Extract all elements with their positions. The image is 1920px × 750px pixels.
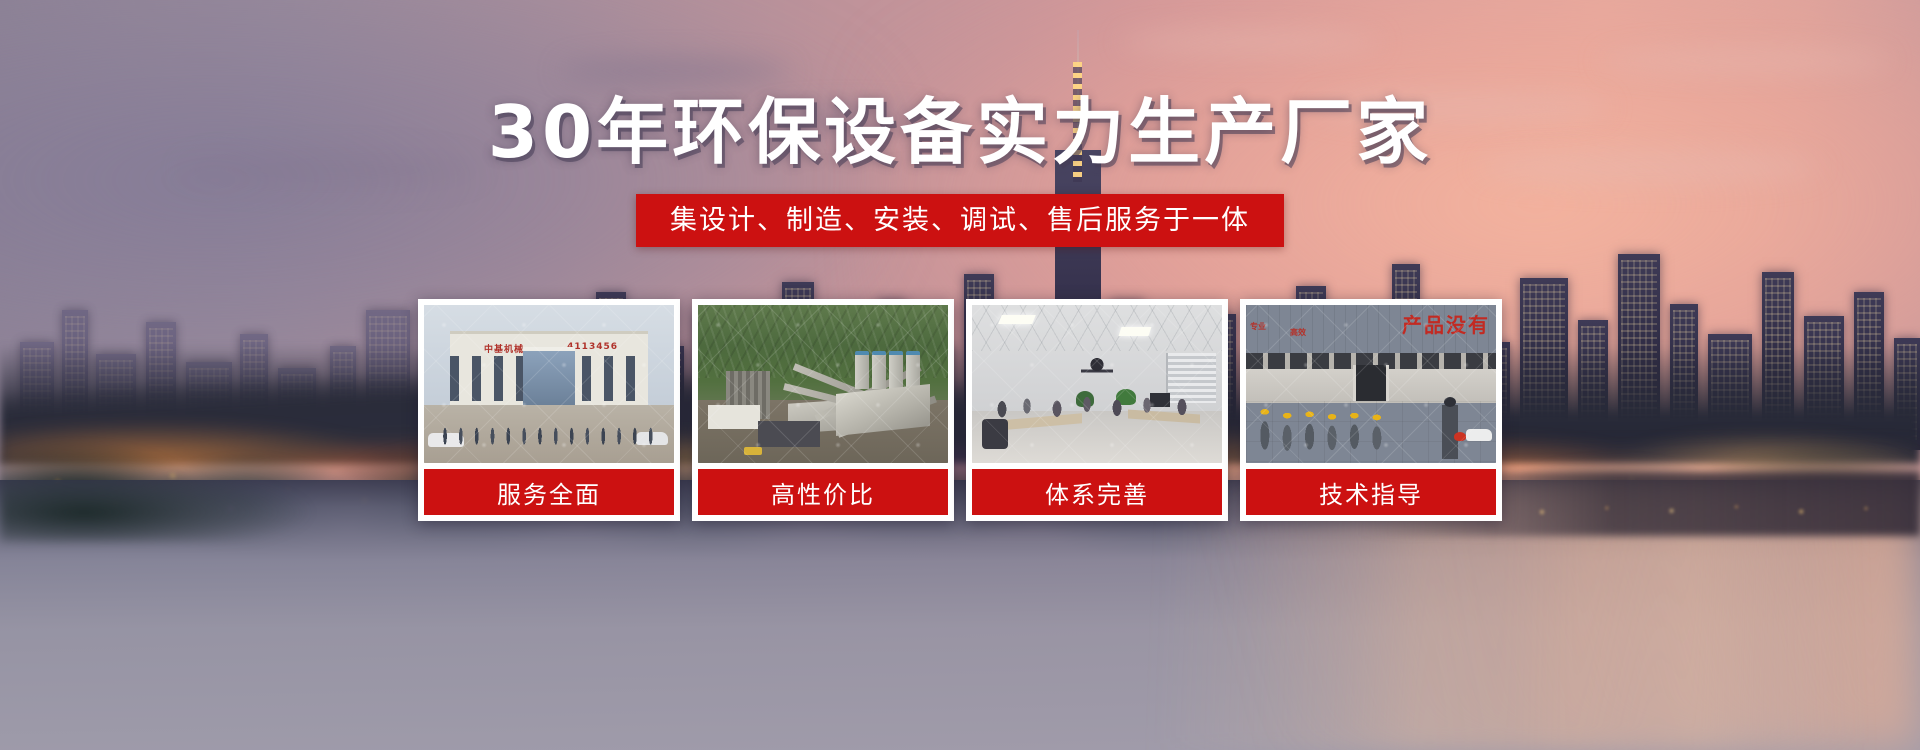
factory-banner-text: 产品没有 — [1402, 309, 1490, 338]
office-staff — [972, 385, 1222, 429]
plant-building — [758, 421, 820, 447]
office-chair — [982, 419, 1008, 449]
office-ceiling — [972, 305, 1222, 351]
building-entrance — [523, 347, 575, 405]
feature-card-label: 高性价比 — [698, 469, 948, 515]
parked-car — [1466, 429, 1492, 441]
banner-content: 30年环保设备实力生产厂家 集设计、制造、安装、调试、售后服务于一体 中基机械 … — [0, 0, 1920, 750]
factory-door — [1353, 365, 1389, 401]
company-office-building-photo: 中基机械 4113456 — [424, 305, 674, 463]
cement-silos — [855, 351, 920, 389]
company-sign-text: 中基机械 — [484, 342, 524, 355]
feature-card-label: 体系完善 — [972, 469, 1222, 515]
feature-card[interactable]: 高性价比 — [692, 299, 954, 521]
subtitle-badge: 集设计、制造、安装、调试、售后服务于一体 — [636, 194, 1284, 247]
feature-card[interactable]: 专业 高效 产品没有 技术指导 — [1240, 299, 1502, 521]
plant-building — [708, 405, 760, 429]
factory-slogan-text: 专业 — [1250, 321, 1266, 332]
factory-slogan-text: 高效 — [1290, 327, 1306, 338]
industrial-plant-aerial-photo — [698, 305, 948, 463]
safety-helmet-icons — [1252, 397, 1412, 459]
feature-card-label: 服务全面 — [424, 469, 674, 515]
feature-card-list: 中基机械 4113456 服务全面 — [418, 299, 1502, 521]
staff-lineup — [436, 411, 662, 453]
feature-card[interactable]: 中基机械 4113456 服务全面 — [418, 299, 680, 521]
page-title: 30年环保设备实力生产厂家 — [488, 96, 1432, 168]
office-interior-photo — [972, 305, 1222, 463]
factory-workers-photo: 专业 高效 产品没有 — [1246, 305, 1496, 463]
wall-logo-emblem — [1081, 355, 1113, 379]
feature-card[interactable]: 体系完善 — [966, 299, 1228, 521]
feature-card-label: 技术指导 — [1246, 469, 1496, 515]
ceiling-light — [998, 315, 1036, 324]
yard-truck — [744, 447, 762, 455]
red-helmet-icon — [1454, 432, 1466, 441]
ceiling-light — [1119, 327, 1152, 336]
hero-banner: 30年环保设备实力生产厂家 集设计、制造、安装、调试、售后服务于一体 中基机械 … — [0, 0, 1920, 750]
